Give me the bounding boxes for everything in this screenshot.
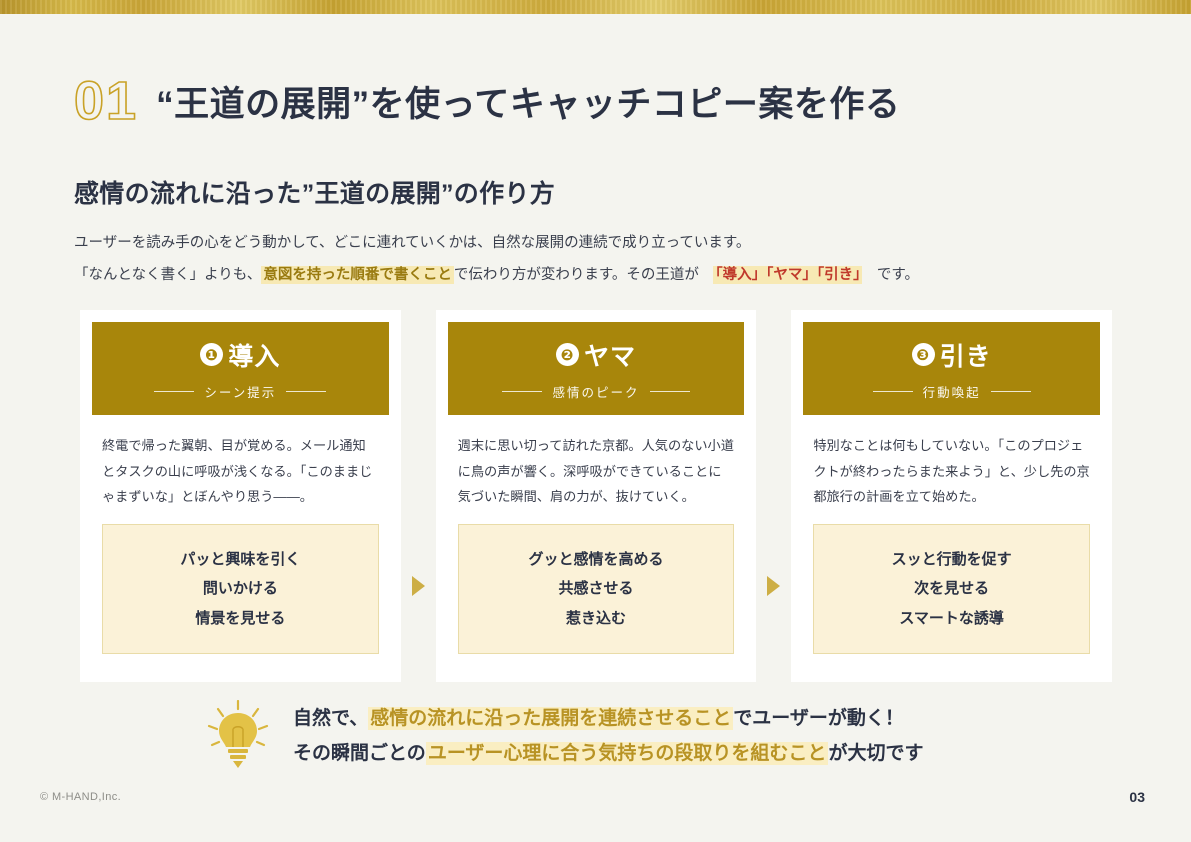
cards-row: ❶導入 シーン提示 終電で帰った翼朝、目が覚める。メール通知とタスクの山に呼吸が… [80,310,1112,682]
card-3-body: 特別なことは何もしていない。「このプロジェクトが終わったらまた来よう」と、少し先… [791,415,1112,510]
card-1-pill-line-3: 情景を見せる [113,604,368,633]
card-3-pill-line-3: スマートな誘導 [824,604,1079,633]
lead-line-2-suffix: です。 [862,267,919,283]
callout-line-2-highlight: ユーザー心理に合う気持ちの段取りを組むこと [426,742,829,765]
section-number: 01 [74,74,138,128]
card-2-pill-line-1: グッと感情を高める [469,545,724,574]
callout-line-1-highlight: 感情の流れに沿った展開を連続させること [368,707,733,730]
card-3-number-badge: ❸ [912,343,935,366]
card-3-title: 引き [940,337,992,373]
card-3[interactable]: ❸引き 行動喚起 特別なことは何もしていない。「このプロジェクトが終わったらまた… [791,310,1112,682]
dash-right-icon [991,391,1031,392]
page-header: 01 “王道の展開”を使ってキャッチコピー案を作る [74,74,900,128]
card-2-subtitle: 感情のピーク [552,382,639,401]
card-1-pill-line-1: パッと興味を引く [113,545,368,574]
callout-lines: 自然で、感情の流れに沿った展開を連続させることでユーザーが動く！ その瞬間ごとの… [293,701,923,771]
lead-line-2-mid: で伝わり方が変わります。その王道が [454,267,714,283]
card-1-footer: パッと興味を引く 問いかける 情景を見せる [102,524,379,654]
dash-left-icon [154,391,194,392]
card-2-header: ❷ヤマ 感情のピーク [448,322,745,415]
card-1-title-line: ❶導入 [200,337,280,373]
card-3-footer: スッと行動を促す 次を見せる スマートな誘導 [813,524,1090,654]
card-1-title: 導入 [228,337,280,373]
lead-paragraphs: ユーザーを読み手の心をどう動かして、どこに連れていくかは、自然な展開の連続で成り… [74,232,1124,296]
card-2-pill: グッと感情を高める 共感させる 惹き込む [458,524,735,654]
card-1-pill: パッと興味を引く 問いかける 情景を見せる [102,524,379,654]
top-gold-bar [0,0,1191,14]
callout-line-2: その瞬間ごとのユーザー心理に合う気持ちの段取りを組むことが大切です [293,736,923,771]
lead-line-2: 「なんとなく書く」よりも、意図を持った順番で書くことで伝わり方が変わります。その… [74,264,1124,287]
card-2-title: ヤマ [584,337,636,373]
card-2-subtitle-line: 感情のピーク [502,382,689,401]
dash-right-icon [650,391,690,392]
card-2-body: 週末に思い切って訪れた京都。人気のない小道に鳥の声が響く。深呼吸ができていること… [436,415,757,510]
bottom-callout: 自然で、感情の流れに沿った展開を連続させることでユーザーが動く！ その瞬間ごとの… [205,700,923,772]
triangle-right-icon [412,576,425,596]
card-3-pill-line-1: スッと行動を促す [824,545,1079,574]
dash-left-icon [502,391,542,392]
card-3-header: ❸引き 行動喚起 [803,322,1100,415]
subheading: 感情の流れに沿った”王道の展開”の作り方 [74,174,555,210]
card-2-number-badge: ❷ [556,343,579,366]
card-3-pill: スッと行動を促す 次を見せる スマートな誘導 [813,524,1090,654]
dash-right-icon [286,391,326,392]
card-2-pill-line-2: 共感させる [469,574,724,603]
page-title: “王道の展開”を使ってキャッチコピー案を作る [156,76,900,127]
callout-line-1-suffix: でユーザーが動く！ [733,708,904,729]
card-1-body: 終電で帰った翼朝、目が覚める。メール通知とタスクの山に呼吸が浅くなる。「このまま… [80,415,401,510]
card-2[interactable]: ❷ヤマ 感情のピーク 週末に思い切って訪れた京都。人気のない小道に鳥の声が響く。… [436,310,757,682]
callout-line-1: 自然で、感情の流れに沿った展開を連続させることでユーザーが動く！ [293,701,923,736]
card-1-subtitle: シーン提示 [204,382,276,401]
card-1-number-badge: ❶ [200,343,223,366]
lead-highlight: 意図を持った順番で書くこと [261,266,454,284]
card-3-title-line: ❸引き [912,337,992,373]
copyright: © M-HAND,Inc. [40,791,121,803]
callout-line-1-prefix: 自然で、 [293,708,368,729]
card-1[interactable]: ❶導入 シーン提示 終電で帰った翼朝、目が覚める。メール通知とタスクの山に呼吸が… [80,310,401,682]
triangle-right-icon [767,576,780,596]
card-2-title-line: ❷ヤマ [556,337,636,373]
arrow-2-to-3 [756,310,791,682]
lead-highlight-red: 「導入」「ヤマ」「引き」 [713,266,862,284]
card-3-subtitle: 行動喚起 [923,382,981,401]
card-1-subtitle-line: シーン提示 [154,382,326,401]
lead-line-1: ユーザーを読み手の心をどう動かして、どこに連れていくかは、自然な展開の連続で成り… [74,232,1124,255]
card-2-footer: グッと感情を高める 共感させる 惹き込む [458,524,735,654]
card-3-pill-line-2: 次を見せる [824,574,1079,603]
callout-line-2-suffix: が大切です [828,743,923,764]
card-1-pill-line-2: 問いかける [113,574,368,603]
lead-line-2-prefix: 「なんとなく書く」よりも、 [74,267,261,283]
card-3-subtitle-line: 行動喚起 [873,382,1031,401]
card-2-pill-line-3: 惹き込む [469,604,724,633]
lightbulb-icon [205,700,271,772]
dash-left-icon [873,391,913,392]
callout-line-2-prefix: その瞬間ごとの [293,743,426,764]
page-number: 03 [1129,789,1145,805]
card-1-header: ❶導入 シーン提示 [92,322,389,415]
arrow-1-to-2 [401,310,436,682]
